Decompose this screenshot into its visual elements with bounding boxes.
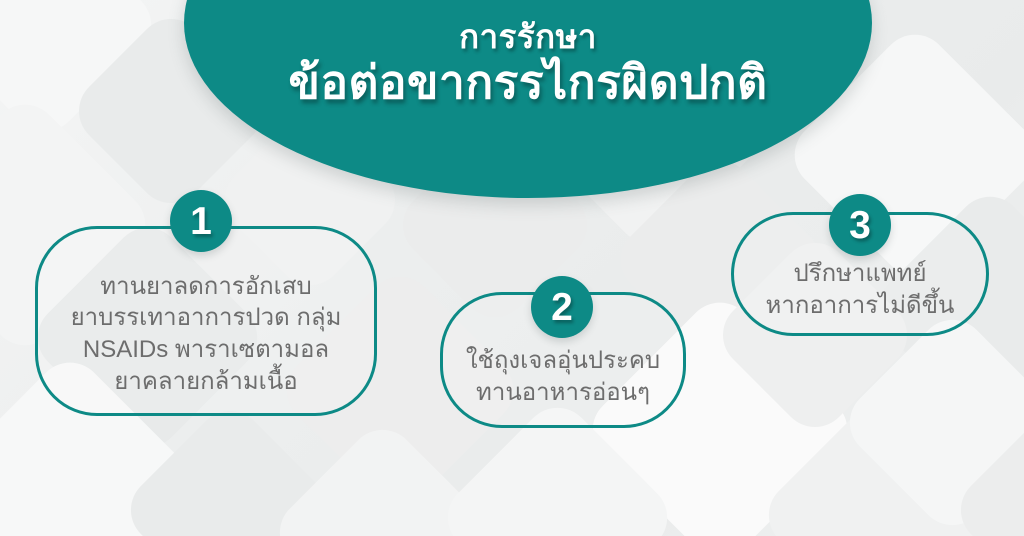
card-2-line-1: ใช้ถุงเจลอุ่นประคบ xyxy=(457,345,669,377)
background-tile xyxy=(947,397,1024,536)
card-2-line-2: ทานอาหารอ่อนๆ xyxy=(457,377,669,409)
step-badge-3: 3 xyxy=(829,194,891,256)
treatment-card-1-text: ทานยาลดการอักเสบ ยาบรรเทาอาการปวด กลุ่ม … xyxy=(38,245,374,398)
step-badge-1: 1 xyxy=(170,190,232,252)
card-1-line-3: NSAIDs พาราเซตามอล xyxy=(52,334,360,366)
background-tile xyxy=(266,416,499,536)
card-1-line-2: ยาบรรเทาอาการปวด กลุ่ม xyxy=(52,302,360,334)
background-tile xyxy=(836,306,1024,536)
treatment-card-1: ทานยาลดการอักเสบ ยาบรรเทาอาการปวด กลุ่ม … xyxy=(35,226,377,416)
card-3-line-1: ปรึกษาแพทย์ xyxy=(748,258,972,290)
background-tile xyxy=(755,395,995,536)
card-3-line-2: หากอาการไม่ดีขึ้น xyxy=(748,290,972,322)
header-ellipse-shape xyxy=(184,0,872,198)
background-tile xyxy=(117,397,343,536)
card-1-line-1: ทานยาลดการอักเสบ xyxy=(52,271,360,303)
step-badge-2: 2 xyxy=(531,276,593,338)
card-1-line-4: ยาคลายกล้ามเนื้อ xyxy=(52,366,360,398)
infographic-canvas: การรักษา ข้อต่อขากรรไกรผิดปกติ ทานยาลดกา… xyxy=(0,0,1024,536)
background-tile xyxy=(0,0,165,145)
